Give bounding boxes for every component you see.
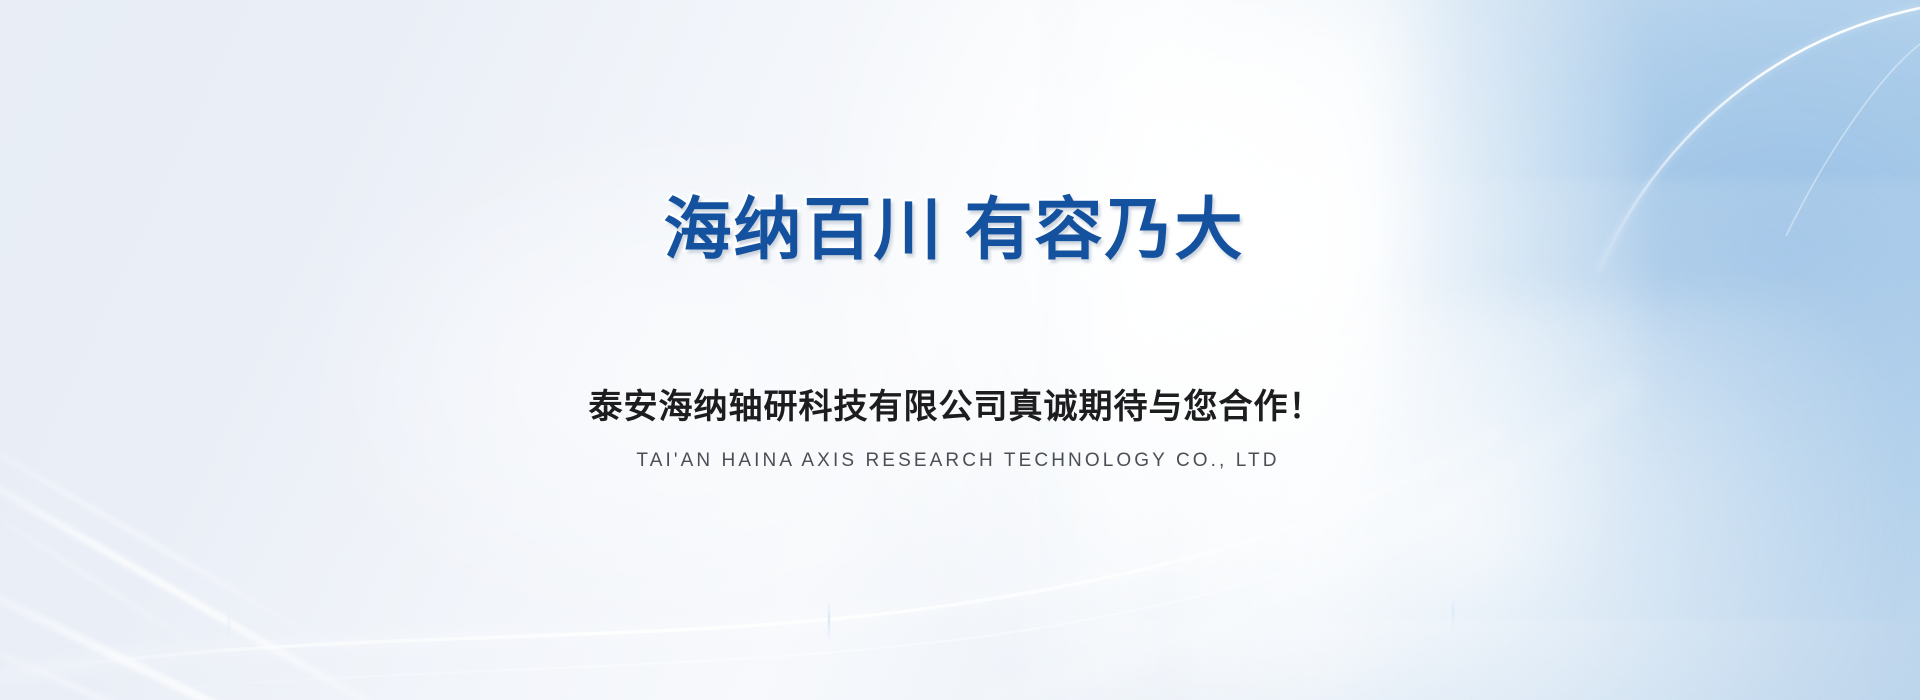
hero-banner: 海纳百川 有容乃大 泰安海纳轴研科技有限公司真诚期待与您合作！ TAI'AN H… — [0, 0, 1920, 700]
banner-subtitle-english: TAI'AN HAINA AXIS RESEARCH TECHNOLOGY CO… — [0, 450, 1918, 473]
banner-content: 海纳百川 有容乃大 泰安海纳轴研科技有限公司真诚期待与您合作！ TAI'AN H… — [0, 0, 1920, 700]
banner-subtitle-chinese: 泰安海纳轴研科技有限公司真诚期待与您合作！ — [0, 388, 1916, 427]
banner-headline: 海纳百川 有容乃大 — [0, 196, 1914, 264]
